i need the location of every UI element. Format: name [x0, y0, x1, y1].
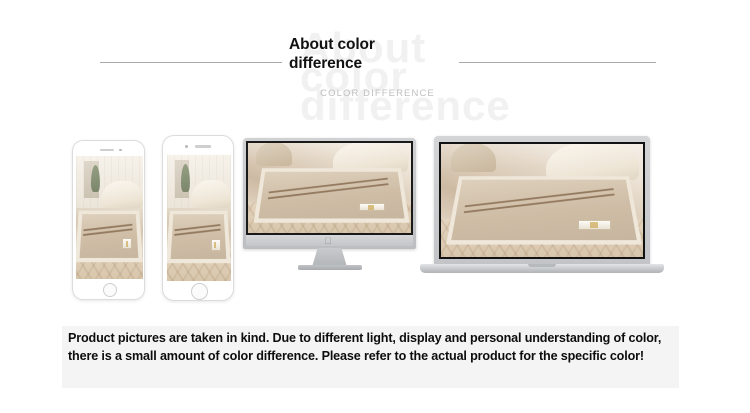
- color-difference-banner: About color difference About color diffe…: [0, 0, 750, 413]
- divider-line-right: [459, 62, 656, 63]
- photo-product-tag: [359, 203, 385, 211]
- photo-chair: [451, 144, 495, 172]
- device-laptop: [420, 136, 664, 280]
- header-section: About color difference About color diffe…: [0, 0, 750, 118]
- photo-sofa: [101, 181, 143, 208]
- phone-left-screen: [76, 156, 143, 279]
- monitor-stand-base: [298, 265, 362, 270]
- photo-rug: [253, 169, 408, 223]
- front-camera-icon: [119, 149, 122, 152]
- earpiece-speaker-icon: [100, 149, 114, 152]
- product-photo-laptop: [441, 144, 643, 257]
- phone-right-screen: [167, 155, 231, 281]
- divider-line-left: [100, 62, 282, 63]
- apple-logo-icon: : [324, 237, 332, 246]
- product-photo-phone-right: [167, 155, 231, 281]
- home-button-icon: [103, 283, 117, 297]
- product-photo-monitor: [248, 143, 411, 233]
- photo-product-tag: [122, 238, 133, 249]
- monitor-bezel: : [243, 138, 416, 249]
- photo-sofa: [191, 180, 231, 208]
- device-smartphone-right: [162, 135, 234, 301]
- device-smartphone-left: [72, 140, 145, 300]
- page-subtitle: COLOR DIFFERENCE: [270, 88, 485, 99]
- photo-rug: [76, 210, 143, 262]
- monitor-screen-viewport: [248, 143, 411, 233]
- photo-product-tag: [578, 220, 610, 230]
- front-camera-icon: [185, 145, 188, 148]
- device-desktop-monitor: : [243, 138, 416, 268]
- laptop-screen: [439, 142, 645, 259]
- page-title: About color difference: [289, 35, 459, 73]
- photo-product-tag: [211, 239, 221, 250]
- photo-sofa: [546, 144, 639, 180]
- photo-rug: [446, 177, 642, 245]
- earpiece-speaker-icon: [195, 145, 211, 148]
- laptop-lid-notch: [528, 264, 556, 267]
- photo-rug: [167, 211, 231, 264]
- product-photo-phone-left: [76, 156, 143, 279]
- photo-chair: [256, 143, 292, 166]
- monitor-screen: [246, 141, 413, 235]
- disclaimer-text: Product pictures are taken in kind. Due …: [68, 330, 678, 365]
- laptop-lid: [434, 136, 650, 266]
- device-showcase: : [0, 118, 750, 318]
- home-button-icon: [191, 283, 208, 300]
- laptop-screen-viewport: [441, 144, 643, 257]
